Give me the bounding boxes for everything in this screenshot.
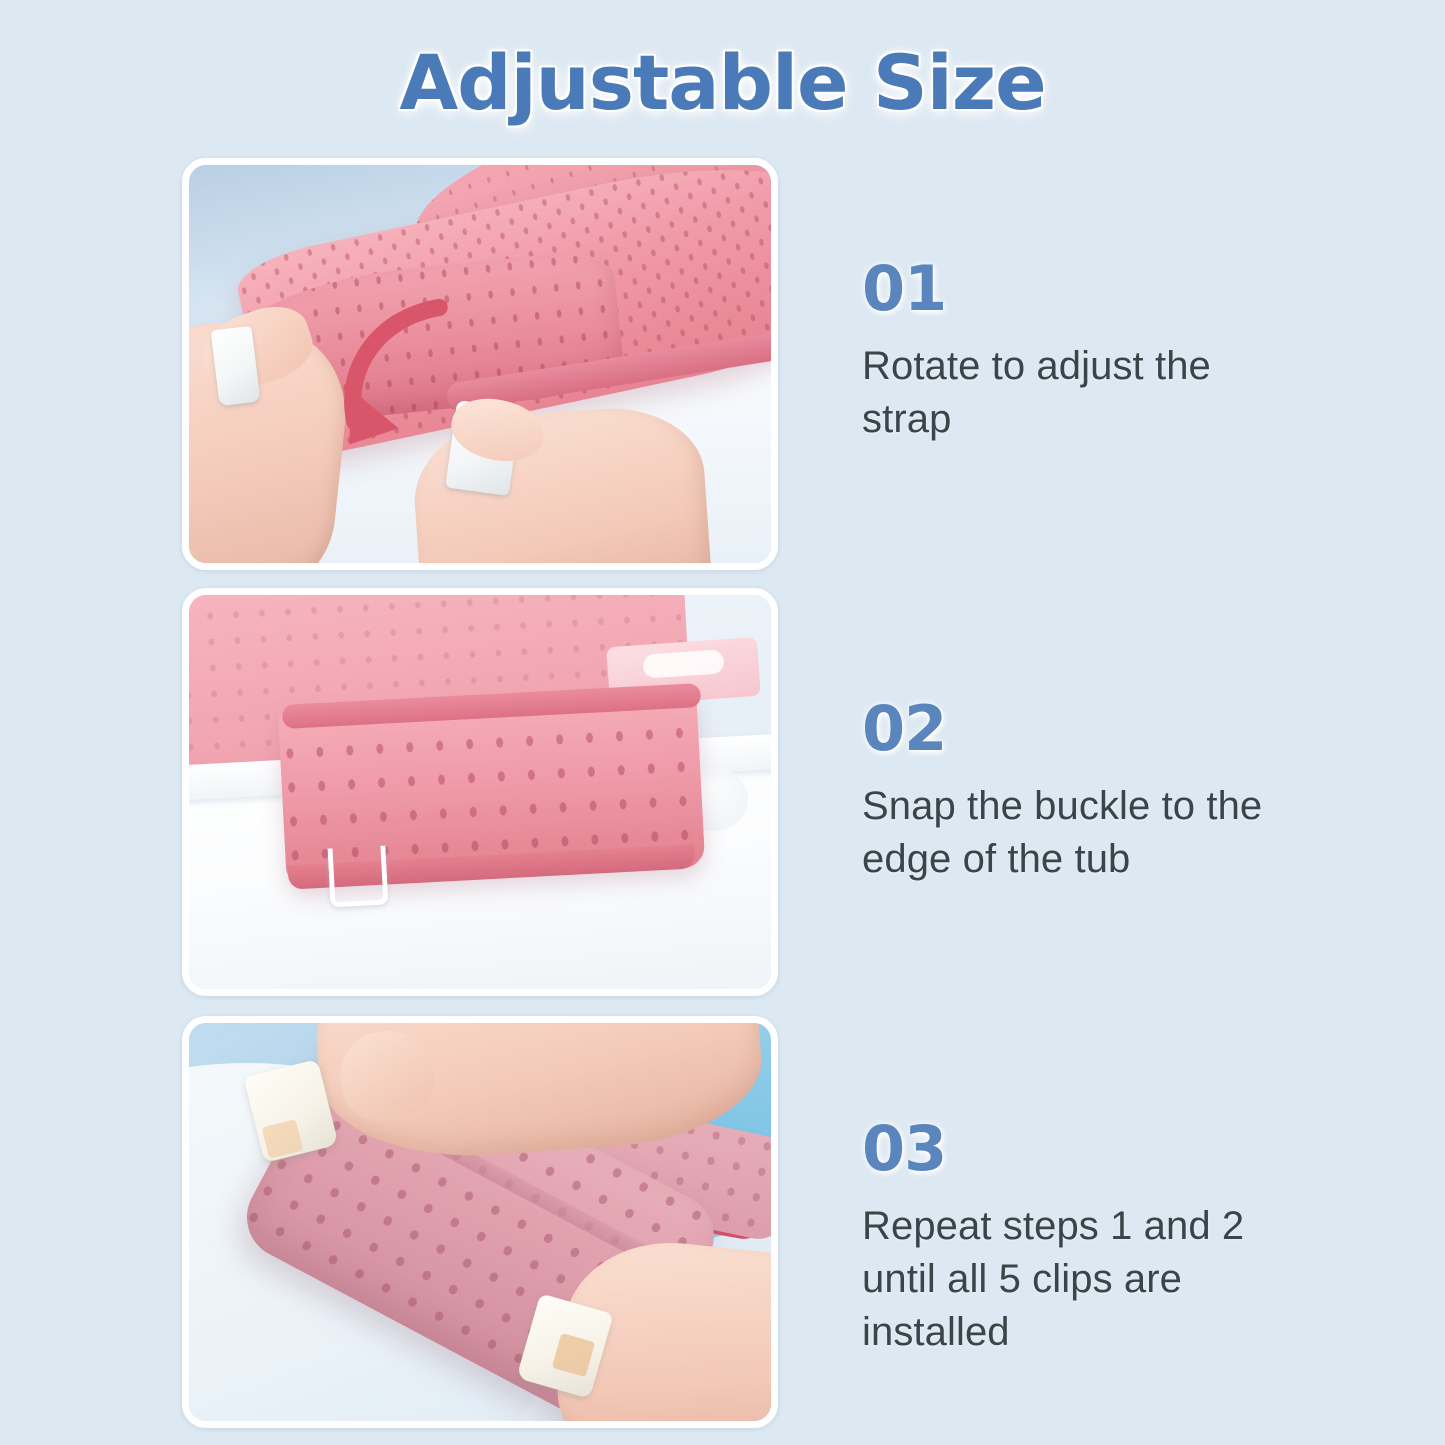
step-block-2: 02 Snap the buckle to the edge of the tu… xyxy=(862,698,1292,886)
rotation-arrow-icon xyxy=(294,296,538,487)
photo-snap-buckle xyxy=(189,595,771,989)
photo-rotate-strap xyxy=(189,165,771,563)
white-clip-hook xyxy=(327,846,388,908)
step-block-1: 01 Rotate to adjust the strap xyxy=(862,258,1292,446)
step-description-3: Repeat steps 1 and 2 until all 5 clips a… xyxy=(862,1200,1292,1358)
page-title: Adjustable Size xyxy=(399,38,1045,127)
page-title-container: Adjustable Size xyxy=(0,38,1445,127)
step-description-2: Snap the buckle to the edge of the tub xyxy=(862,780,1292,886)
step-number-2: 02 xyxy=(862,698,1292,760)
step-image-panel-2 xyxy=(182,588,778,996)
step-image-panel-1 xyxy=(182,158,778,570)
step-block-3: 03 Repeat steps 1 and 2 until all 5 clip… xyxy=(862,1118,1292,1358)
step-number-1: 01 xyxy=(862,258,1292,320)
step-image-panel-3 xyxy=(182,1016,778,1428)
photo-repeat-clips xyxy=(189,1023,771,1421)
step-description-1: Rotate to adjust the strap xyxy=(862,340,1292,446)
step-number-3: 03 xyxy=(862,1118,1292,1180)
